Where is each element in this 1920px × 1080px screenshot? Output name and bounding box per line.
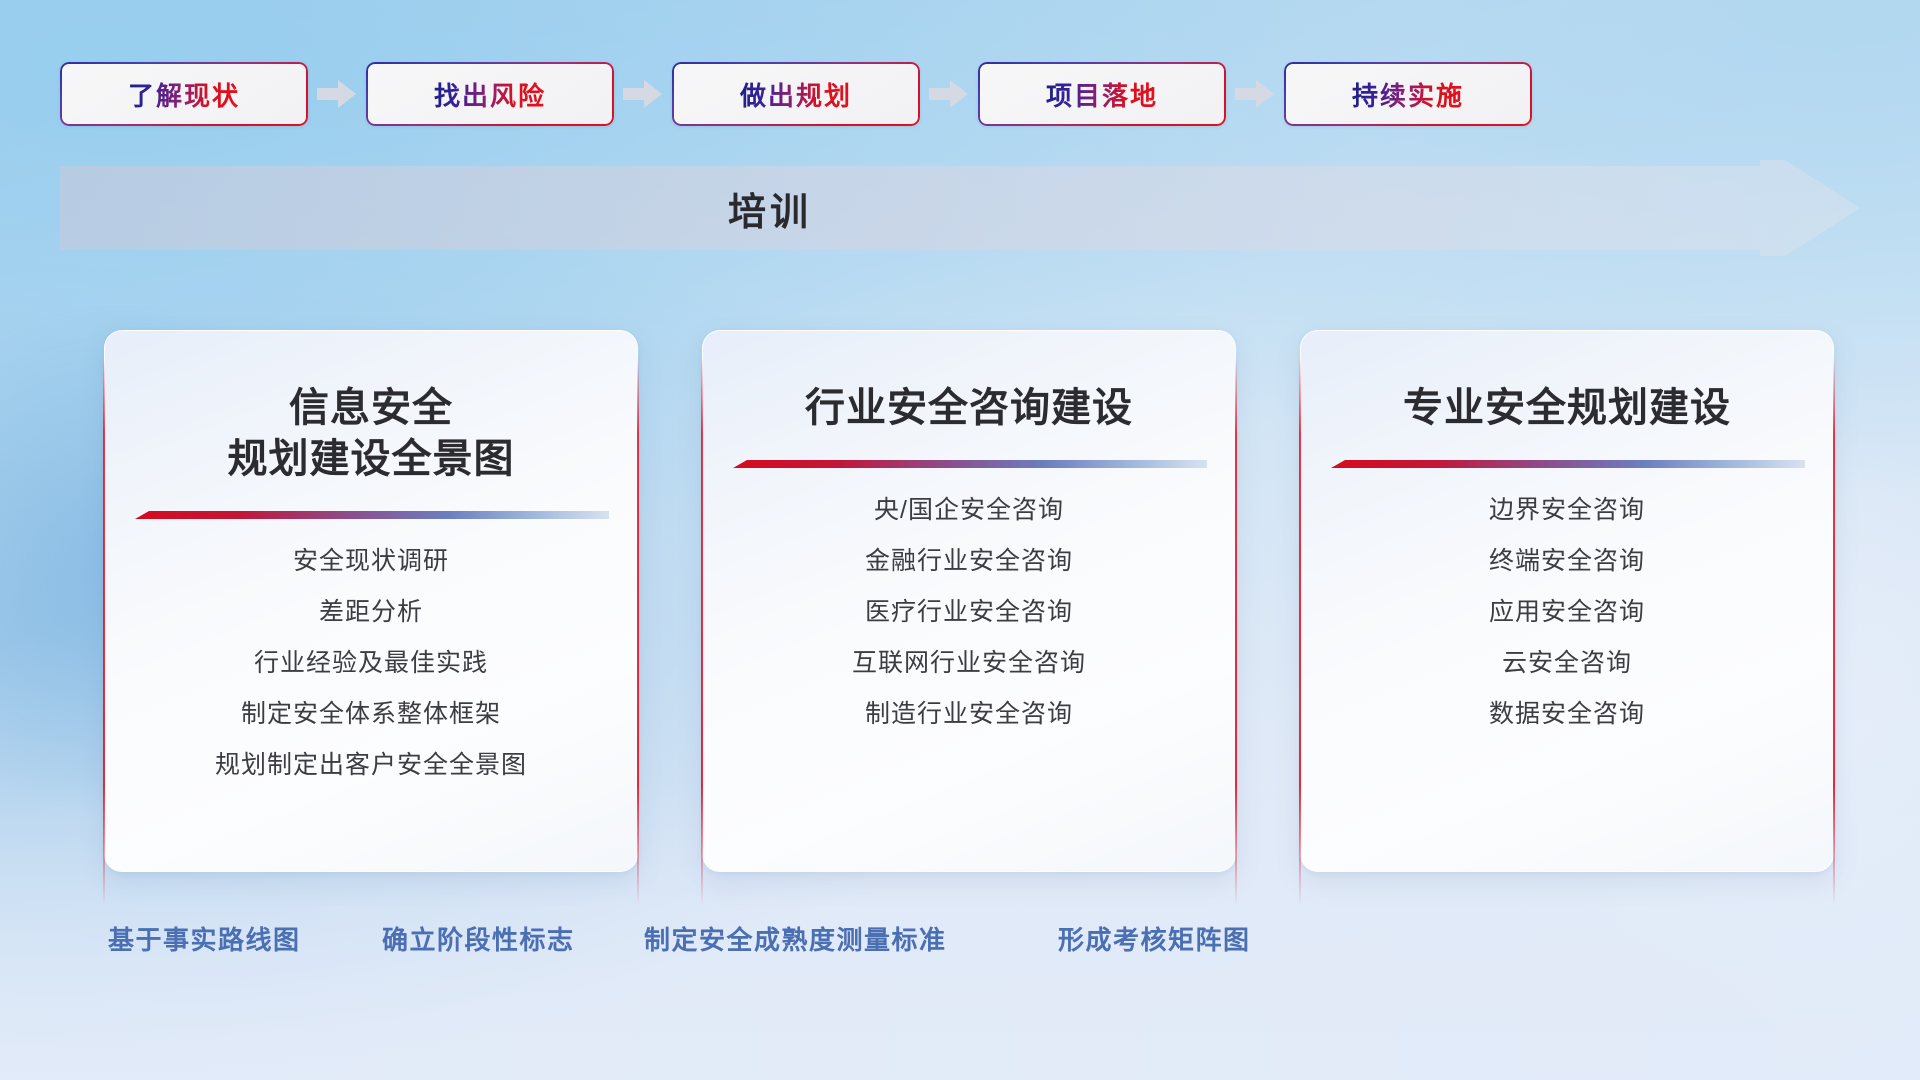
card-list-item[interactable]: 规划制定出客户安全全景图 (135, 753, 607, 778)
card-edge-right (637, 357, 639, 907)
card-list-item[interactable]: 安全现状调研 (135, 549, 607, 574)
card-title: 信息安全 规划建设全景图 (135, 383, 607, 485)
card-list-item[interactable]: 医疗行业安全咨询 (733, 600, 1205, 625)
info-card-3[interactable]: 专业安全规划建设边界安全咨询终端安全咨询应用安全咨询云安全咨询数据安全咨询 (1300, 330, 1834, 872)
step-box-2[interactable]: 找出风险 (366, 62, 614, 126)
card-title: 专业安全规划建设 (1331, 383, 1803, 434)
info-card-1[interactable]: 信息安全 规划建设全景图安全现状调研差距分析行业经验及最佳实践制定安全体系整体框… (104, 330, 638, 872)
card-list-item[interactable]: 数据安全咨询 (1331, 702, 1803, 727)
info-card-2[interactable]: 行业安全咨询建设央/国企安全咨询金融行业安全咨询医疗行业安全咨询互联网行业安全咨… (702, 330, 1236, 872)
arrow-right-icon (614, 62, 672, 126)
step-box-5[interactable]: 持续实施 (1284, 62, 1532, 126)
card-list-item[interactable]: 央/国企安全咨询 (733, 498, 1205, 523)
card-list-item[interactable]: 行业经验及最佳实践 (135, 651, 607, 676)
card-list-item[interactable]: 应用安全咨询 (1331, 600, 1803, 625)
card-edge-right (1235, 357, 1237, 907)
card-list-item[interactable]: 终端安全咨询 (1331, 549, 1803, 574)
bottom-label-1: 基于事实路线图 (108, 920, 301, 957)
card-item-list: 央/国企安全咨询金融行业安全咨询医疗行业安全咨询互联网行业安全咨询制造行业安全咨… (733, 498, 1205, 727)
card-item-list: 安全现状调研差距分析行业经验及最佳实践制定安全体系整体框架规划制定出客户安全全景… (135, 549, 607, 778)
card-edge-right (1833, 357, 1835, 907)
card-edge-left (1299, 357, 1301, 907)
step-box-4[interactable]: 项目落地 (978, 62, 1226, 126)
step-label: 项目落地 (1046, 76, 1158, 113)
bottom-label-3: 制定安全成熟度测量标准 (644, 920, 947, 957)
card-list-item[interactable]: 云安全咨询 (1331, 651, 1803, 676)
step-label: 做出规划 (740, 76, 852, 113)
step-box-1[interactable]: 了解现状 (60, 62, 308, 126)
slide-canvas: 了解现状找出风险做出规划项目落地持续实施 培训 信息安全 规划建设全景图安全现状… (0, 0, 1920, 1080)
card-title: 行业安全咨询建设 (733, 383, 1205, 434)
bottom-label-4: 形成考核矩阵图 (1058, 920, 1251, 957)
card-edge-left (701, 357, 703, 907)
step-label: 了解现状 (128, 76, 240, 113)
card-edge-left (103, 357, 105, 907)
band-title: 培训 (60, 160, 1480, 256)
card-item-list: 边界安全咨询终端安全咨询应用安全咨询云安全咨询数据安全咨询 (1331, 498, 1803, 727)
card-list-item[interactable]: 制定安全体系整体框架 (135, 702, 607, 727)
bottom-label-2: 确立阶段性标志 (382, 920, 575, 957)
step-label: 找出风险 (434, 76, 546, 113)
step-label: 持续实施 (1352, 76, 1464, 113)
gradient-divider (1331, 458, 1803, 472)
card-list-item[interactable]: 金融行业安全咨询 (733, 549, 1205, 574)
arrow-right-icon (308, 62, 366, 126)
card-list-item[interactable]: 制造行业安全咨询 (733, 702, 1205, 727)
card-row: 信息安全 规划建设全景图安全现状调研差距分析行业经验及最佳实践制定安全体系整体框… (104, 330, 1834, 885)
arrow-right-icon (1226, 62, 1284, 126)
card-list-item[interactable]: 边界安全咨询 (1331, 498, 1803, 523)
bottom-label-row: 基于事实路线图确立阶段性标志制定安全成熟度测量标准形成考核矩阵图 (0, 920, 1920, 966)
training-band: 培训 (60, 160, 1860, 256)
arrow-right-icon (920, 62, 978, 126)
process-step-row: 了解现状找出风险做出规划项目落地持续实施 (60, 62, 1860, 126)
card-list-item[interactable]: 差距分析 (135, 600, 607, 625)
gradient-divider (135, 509, 607, 523)
step-box-3[interactable]: 做出规划 (672, 62, 920, 126)
gradient-divider (733, 458, 1205, 472)
card-list-item[interactable]: 互联网行业安全咨询 (733, 651, 1205, 676)
